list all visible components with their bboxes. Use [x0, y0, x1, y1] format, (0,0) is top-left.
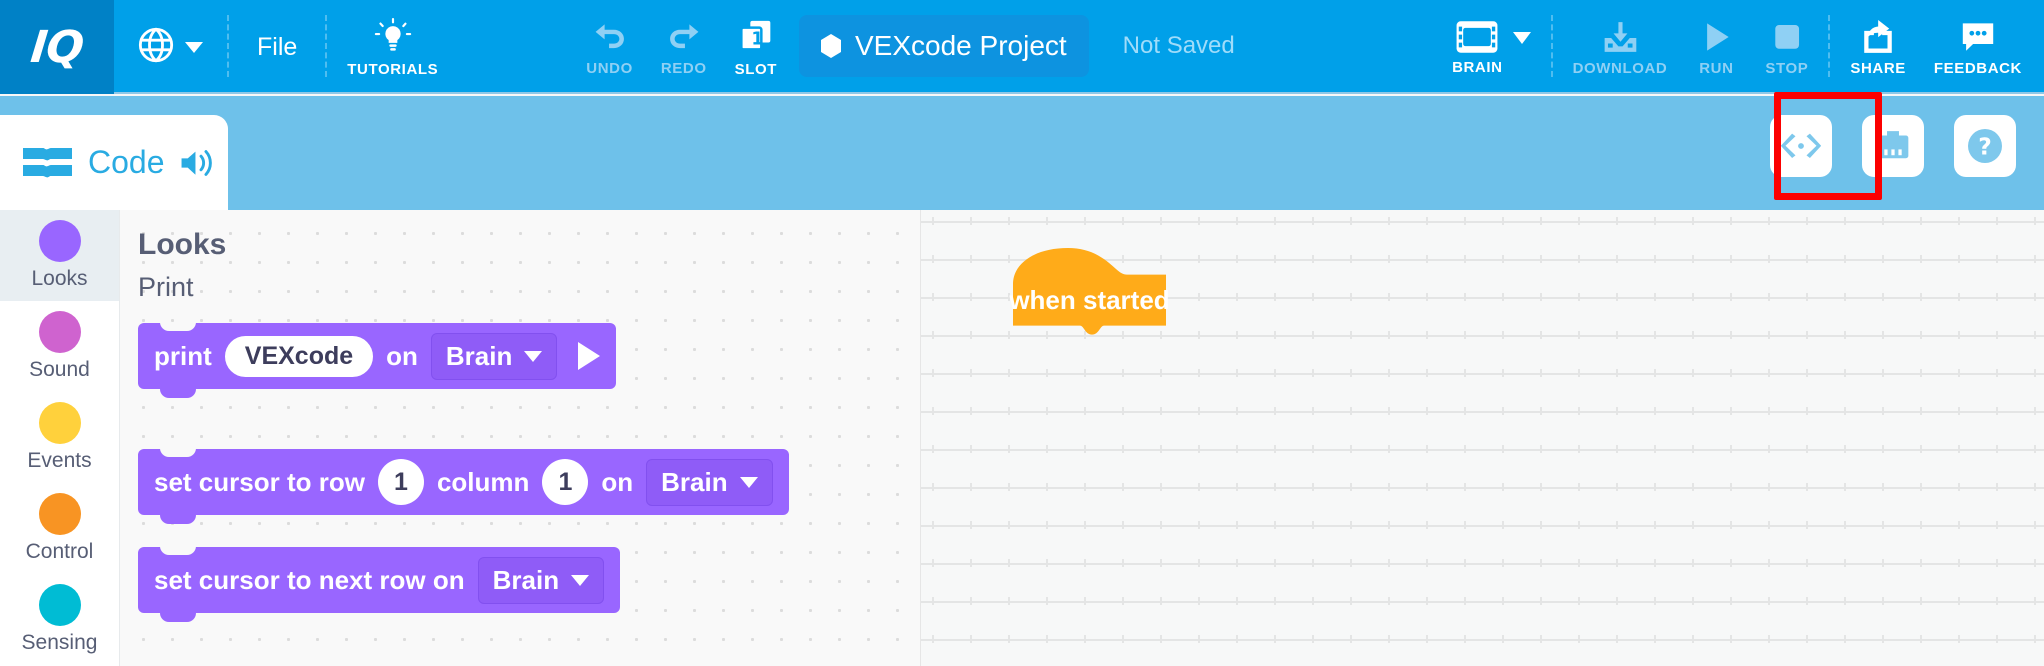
slot-icon: 1: [736, 17, 776, 57]
run-block-icon[interactable]: [578, 342, 600, 370]
download-label: DOWNLOAD: [1573, 60, 1668, 77]
redo-icon: [663, 18, 705, 56]
project-name-button[interactable]: VEXcode Project: [799, 15, 1089, 77]
sound-icon: [177, 146, 217, 180]
share-label: SHARE: [1850, 60, 1906, 77]
set-cursor-next-row-block[interactable]: set cursor to next row on Brain: [138, 547, 620, 613]
download-icon: [1599, 18, 1641, 56]
stop-button[interactable]: STOP: [1751, 0, 1822, 94]
redo-button[interactable]: REDO: [647, 0, 721, 94]
chevron-down-icon: [571, 575, 589, 586]
when-started-block[interactable]: when started: [1008, 242, 1171, 338]
when-started-label: when started: [1008, 242, 1171, 338]
project-name-label: VEXcode Project: [855, 30, 1067, 62]
device-manager-button[interactable]: [1862, 115, 1924, 177]
code-brackets-icon: [1781, 131, 1821, 161]
run-button[interactable]: RUN: [1681, 0, 1751, 94]
sensing-color-dot: [39, 584, 81, 626]
chevron-down-icon: [740, 477, 758, 488]
sidebar-item-label: Sensing: [22, 631, 98, 655]
print-device-dropdown[interactable]: Brain: [431, 333, 557, 380]
sidebar-item-control[interactable]: Control: [0, 483, 119, 574]
print-block-label: print: [154, 341, 212, 372]
feedback-label: FEEDBACK: [1934, 60, 2022, 77]
events-color-dot: [39, 402, 81, 444]
language-selector[interactable]: [114, 0, 221, 94]
print-block[interactable]: print VEXcode on Brain: [138, 323, 616, 389]
help-button[interactable]: ?: [1954, 115, 2016, 177]
brain-chevron-down-icon: [1513, 32, 1531, 44]
code-canvas[interactable]: when started: [921, 210, 2044, 666]
sidebar-item-looks[interactable]: Looks: [0, 210, 119, 301]
logo-text: IQ: [28, 22, 85, 73]
tab-code[interactable]: Code: [0, 115, 228, 210]
set-cursor-next-row-label: set cursor to next row on: [154, 565, 465, 596]
tutorials-label: TUTORIALS: [347, 61, 438, 78]
looks-color-dot: [39, 220, 81, 262]
file-menu-label: File: [257, 33, 297, 62]
sidebar-item-sound[interactable]: Sound: [0, 301, 119, 392]
toolbar-divider-2: [325, 15, 327, 77]
chevron-down-icon: [524, 351, 542, 362]
next-row-device-dropdown[interactable]: Brain: [478, 557, 604, 604]
control-color-dot: [39, 493, 81, 535]
undo-button[interactable]: UNDO: [572, 0, 647, 94]
tutorials-button[interactable]: TUTORIALS: [333, 0, 452, 94]
undo-icon: [589, 18, 631, 56]
toolbar-divider-3: [1551, 15, 1553, 77]
set-cursor-on-label: on: [601, 467, 633, 498]
slot-label: SLOT: [735, 61, 777, 78]
slot-button[interactable]: 1 SLOT: [721, 0, 791, 94]
question-mark-icon: ?: [1965, 126, 2005, 166]
tab-code-label: Code: [88, 144, 165, 181]
comment-icon: [1957, 18, 1999, 56]
run-label: RUN: [1699, 60, 1733, 77]
robot-brain-icon: [1874, 128, 1912, 164]
row-number-input[interactable]: 1: [378, 459, 424, 505]
vex-iq-logo[interactable]: IQ: [0, 0, 114, 94]
set-cursor-row-column-block[interactable]: set cursor to row 1 column 1 on Brain: [138, 449, 789, 515]
code-blocks-icon: [22, 146, 76, 180]
brain-label: BRAIN: [1452, 59, 1503, 76]
redo-label: REDO: [661, 60, 707, 77]
svg-text:?: ?: [1978, 133, 1992, 161]
chevron-down-icon: [185, 42, 203, 53]
workspace-tools: ?: [1770, 115, 2016, 177]
lightbulb-icon: [373, 17, 413, 57]
set-cursor-device-dropdown[interactable]: Brain: [646, 459, 772, 506]
sidebar-item-label: Looks: [31, 267, 87, 291]
feedback-button[interactable]: FEEDBACK: [1920, 0, 2044, 94]
set-cursor-device-value: Brain: [661, 467, 727, 498]
download-button[interactable]: DOWNLOAD: [1559, 0, 1682, 94]
globe-icon: [136, 25, 176, 70]
sidebar-item-label: Sound: [29, 358, 90, 382]
main-area: Looks Sound Events Control Sensing Looks…: [0, 210, 2044, 666]
column-number-input[interactable]: 1: [542, 459, 588, 505]
project-hexagon-icon: [821, 34, 841, 58]
sidebar-item-label: Control: [26, 540, 94, 564]
print-device-value: Brain: [446, 341, 512, 372]
svg-text:1: 1: [751, 29, 763, 49]
block-palette[interactable]: Looks Print print VEXcode on Brain set c…: [120, 210, 920, 666]
stop-square-icon: [1766, 18, 1808, 56]
share-button[interactable]: SHARE: [1836, 0, 1920, 94]
stop-label: STOP: [1765, 60, 1808, 77]
category-rail: Looks Sound Events Control Sensing: [0, 210, 120, 666]
next-row-device-value: Brain: [493, 565, 559, 596]
share-icon: [1857, 18, 1899, 56]
toolbar-divider-4: [1828, 15, 1830, 77]
sound-color-dot: [39, 311, 81, 353]
brain-device-icon: [1455, 19, 1499, 55]
file-menu-button[interactable]: File: [235, 0, 319, 94]
undo-label: UNDO: [586, 60, 633, 77]
print-text-input[interactable]: VEXcode: [225, 336, 373, 377]
sidebar-item-label: Events: [27, 449, 91, 473]
text-code-toggle-button[interactable]: [1770, 115, 1832, 177]
toolbar-divider-1: [227, 15, 229, 77]
sidebar-item-events[interactable]: Events: [0, 392, 119, 483]
top-toolbar: IQ File TUTORIALS: [0, 0, 2044, 94]
brain-selector-button[interactable]: BRAIN: [1438, 0, 1545, 94]
palette-category-title: Looks: [138, 228, 226, 262]
save-status-label: Not Saved: [1089, 32, 1269, 60]
print-on-label: on: [386, 341, 418, 372]
sidebar-item-sensing[interactable]: Sensing: [0, 574, 119, 665]
column-label: column: [437, 467, 529, 498]
tab-strip: Code: [0, 96, 2044, 210]
palette-section-subtitle: Print: [138, 272, 194, 303]
play-icon: [1695, 18, 1737, 56]
set-cursor-row-label: set cursor to row: [154, 467, 365, 498]
